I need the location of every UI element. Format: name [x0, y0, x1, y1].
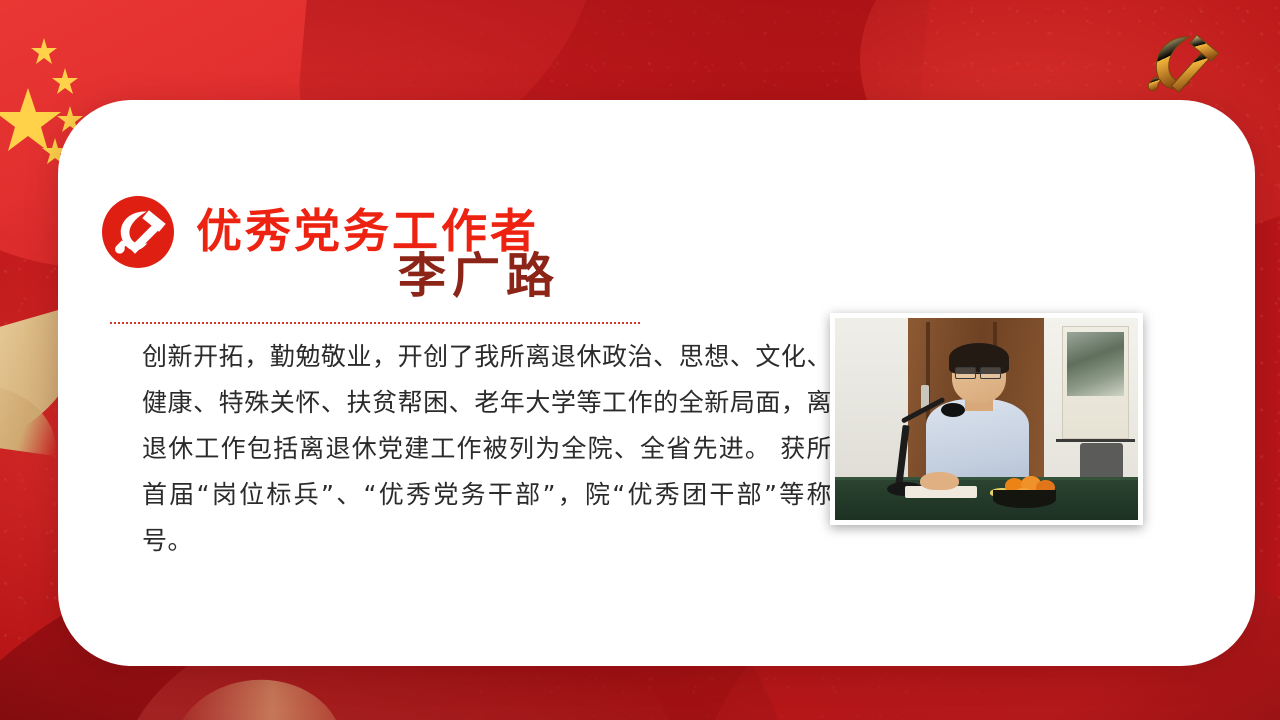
photo-glasses-bridge	[976, 372, 981, 373]
party-emblem-badge-icon	[102, 196, 174, 268]
slide-root: 优秀党务工作者 李广路 创新开拓，勤勉敬业，开创了我所离退休政治、思想、文化、健…	[0, 0, 1280, 720]
photo-scroll-rod	[1056, 439, 1135, 442]
photo-frame	[830, 313, 1143, 525]
gold-ribbon-bottom	[167, 673, 342, 720]
photo-speaker-hand	[920, 472, 959, 490]
content-card: 优秀党务工作者 李广路 创新开拓，勤勉敬业，开创了我所离退休政治、思想、文化、健…	[58, 100, 1255, 666]
gold-ribbon-left-tail	[0, 380, 64, 456]
photo-microphone-head	[941, 403, 965, 417]
photo-table-edge	[835, 477, 1138, 480]
hammer-and-sickle-gold-emblem-icon	[1140, 26, 1232, 104]
photo-glasses-right	[980, 367, 1001, 378]
dotted-divider	[110, 322, 640, 324]
photo-glasses-left	[955, 367, 976, 378]
page-title: 优秀党务工作者	[196, 209, 539, 255]
photo-table	[835, 480, 1138, 520]
photo-fruit-bowl	[993, 490, 1057, 508]
photo-hanging-scroll	[1062, 326, 1129, 439]
biography-paragraph: 创新开拓，勤勉敬业，开创了我所离退休政治、思想、文化、健康、特殊关怀、扶贫帮困、…	[142, 334, 832, 564]
speaker-photo	[835, 318, 1138, 520]
photo-scroll-painting	[1067, 332, 1124, 396]
person-name: 李广路	[398, 253, 560, 301]
